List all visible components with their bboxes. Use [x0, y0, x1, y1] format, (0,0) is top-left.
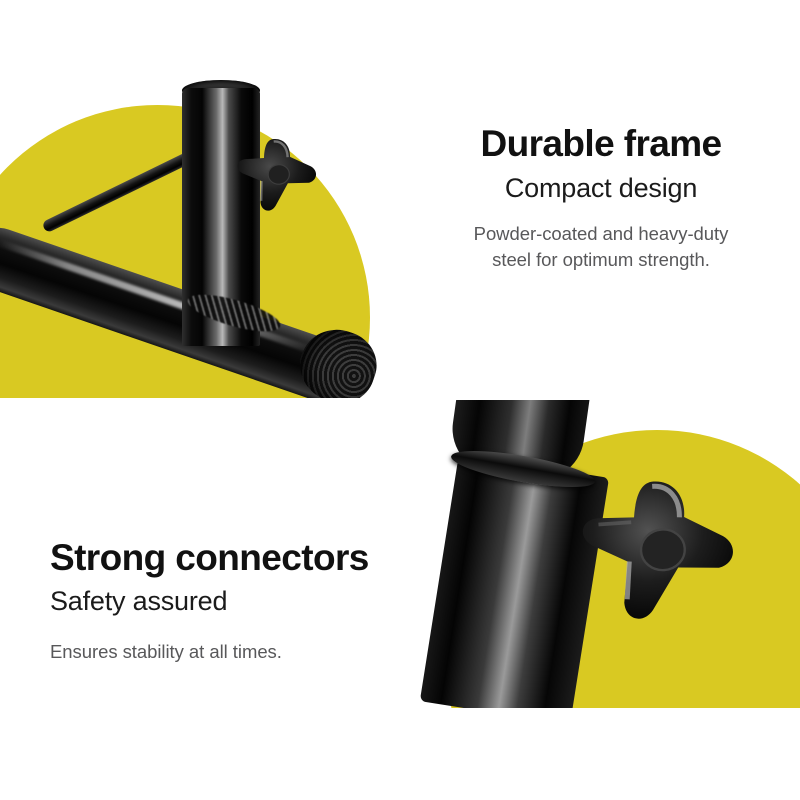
t-knob-icon	[232, 130, 322, 216]
photo-bottom-crop	[402, 708, 800, 800]
durable-frame-body-line-2: steel for optimum strength.	[474, 247, 729, 273]
frame-joint-photo	[0, 0, 395, 398]
t-knob-icon	[573, 467, 743, 628]
text-panel-strong-connectors: Strong connectors Safety assured Ensures…	[0, 404, 395, 800]
strong-connectors-subhead: Safety assured	[50, 586, 227, 617]
product-feature-infographic: Durable frame Compact design Powder-coat…	[0, 0, 800, 800]
text-panel-durable-frame: Durable frame Compact design Powder-coat…	[402, 0, 800, 398]
strong-connectors-headline: Strong connectors	[50, 539, 369, 578]
durable-frame-body-line-1: Powder-coated and heavy-duty	[474, 221, 729, 247]
durable-frame-body: Powder-coated and heavy-duty steel for o…	[474, 221, 729, 274]
durable-frame-headline: Durable frame	[480, 125, 721, 164]
strong-connectors-body-line-1: Ensures stability at all times.	[50, 639, 282, 665]
connector-knob-photo	[402, 400, 800, 800]
durable-frame-subhead: Compact design	[505, 173, 697, 204]
photo-panel-frame-joint	[0, 0, 395, 398]
photo-panel-connector-knob	[402, 400, 800, 800]
strong-connectors-body: Ensures stability at all times.	[50, 639, 282, 665]
